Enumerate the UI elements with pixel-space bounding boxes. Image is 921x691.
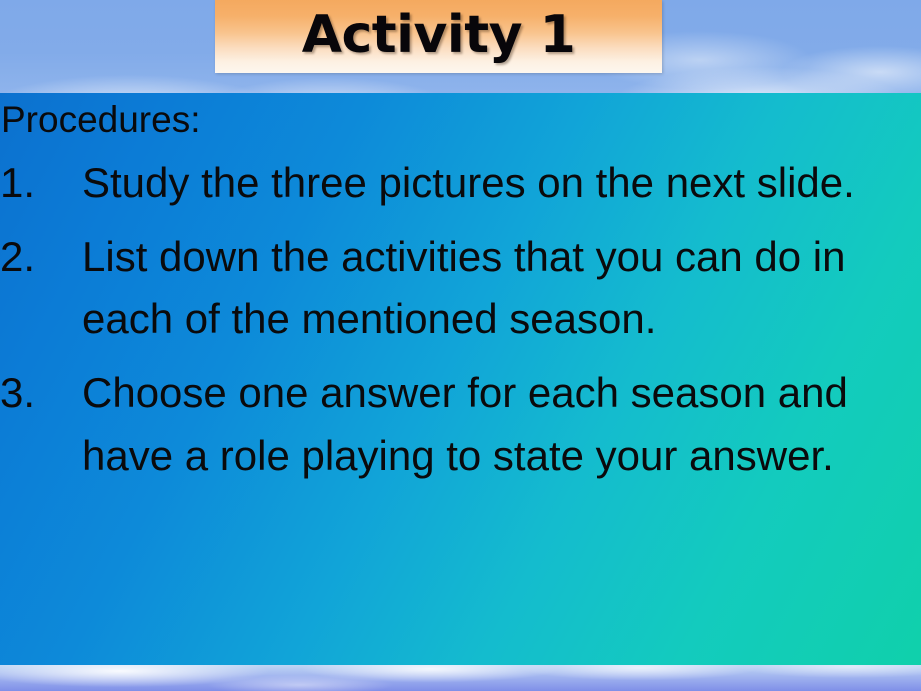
list-item: 3. Choose one answer for each season and…: [0, 362, 921, 486]
list-item-number: 3.: [0, 362, 82, 424]
list-item-number: 2.: [0, 226, 82, 288]
list-item-number: 1.: [0, 152, 82, 214]
list-item: 2. List down the activities that you can…: [0, 226, 921, 350]
list-item-text: List down the activities that you can do…: [82, 226, 921, 350]
procedures-list: 1. Study the three pictures on the next …: [0, 152, 921, 487]
slide-content: Procedures: 1. Study the three pictures …: [0, 100, 921, 487]
list-item-text: Choose one answer for each season and ha…: [82, 362, 921, 486]
title-banner: Activity 1: [215, 0, 662, 73]
slide-title: Activity 1: [215, 0, 662, 73]
procedures-heading: Procedures:: [0, 100, 921, 140]
sky-bottom-cloud-band: [0, 665, 921, 691]
list-item: 1. Study the three pictures on the next …: [0, 152, 921, 214]
list-item-text: Study the three pictures on the next sli…: [82, 152, 921, 214]
slide-canvas: Activity 1 Procedures: 1. Study the thre…: [0, 0, 921, 691]
